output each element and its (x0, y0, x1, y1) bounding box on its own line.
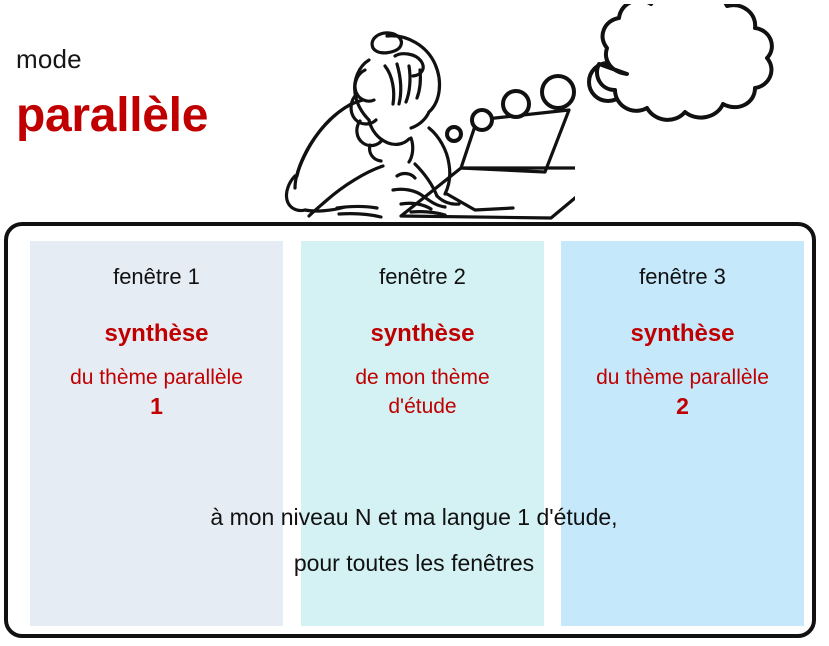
panel-3-heading: synthèse (561, 319, 804, 349)
panel-2-desc-line-1: de mon thème (305, 363, 540, 392)
panel-1-desc-line-1: du thème parallèle (34, 363, 279, 392)
panel-fenetre-1[interactable]: fenêtre 1 synthèse du thème parallèle 1 (30, 241, 283, 626)
panel-3-desc-line-1: du thème parallèle (565, 363, 800, 392)
thought-bubble: j'apprends mieux par comparaison (440, 4, 829, 176)
panel-1-desc-line-2: 1 (34, 392, 279, 421)
panel-2-description: de mon thème d'étude (301, 363, 544, 421)
panel-2-heading: synthèse (301, 319, 544, 349)
panel-1-description: du thème parallèle 1 (30, 363, 283, 421)
mode-label: mode (16, 44, 82, 74)
panel-fenetre-2[interactable]: fenêtre 2 synthèse de mon thème d'étude (301, 241, 544, 626)
panel-2-title: fenêtre 2 (301, 263, 544, 291)
panel-1-heading: synthèse (30, 319, 283, 349)
windows-frame: fenêtre 1 synthèse du thème parallèle 1 … (4, 222, 816, 638)
panel-3-description: du thème parallèle 2 (561, 363, 804, 421)
panel-3-desc-line-2: 2 (565, 392, 800, 421)
panel-fenetre-3[interactable]: fenêtre 3 synthèse du thème parallèle 2 (561, 241, 804, 626)
page-title: parallèle (16, 88, 208, 144)
panel-2-desc-line-2: d'étude (305, 392, 540, 421)
windows-columns: fenêtre 1 synthèse du thème parallèle 1 … (8, 226, 820, 642)
panel-1-title: fenêtre 1 (30, 263, 283, 291)
panel-3-title: fenêtre 3 (561, 263, 804, 291)
header-area: mode parallèle (0, 0, 829, 222)
